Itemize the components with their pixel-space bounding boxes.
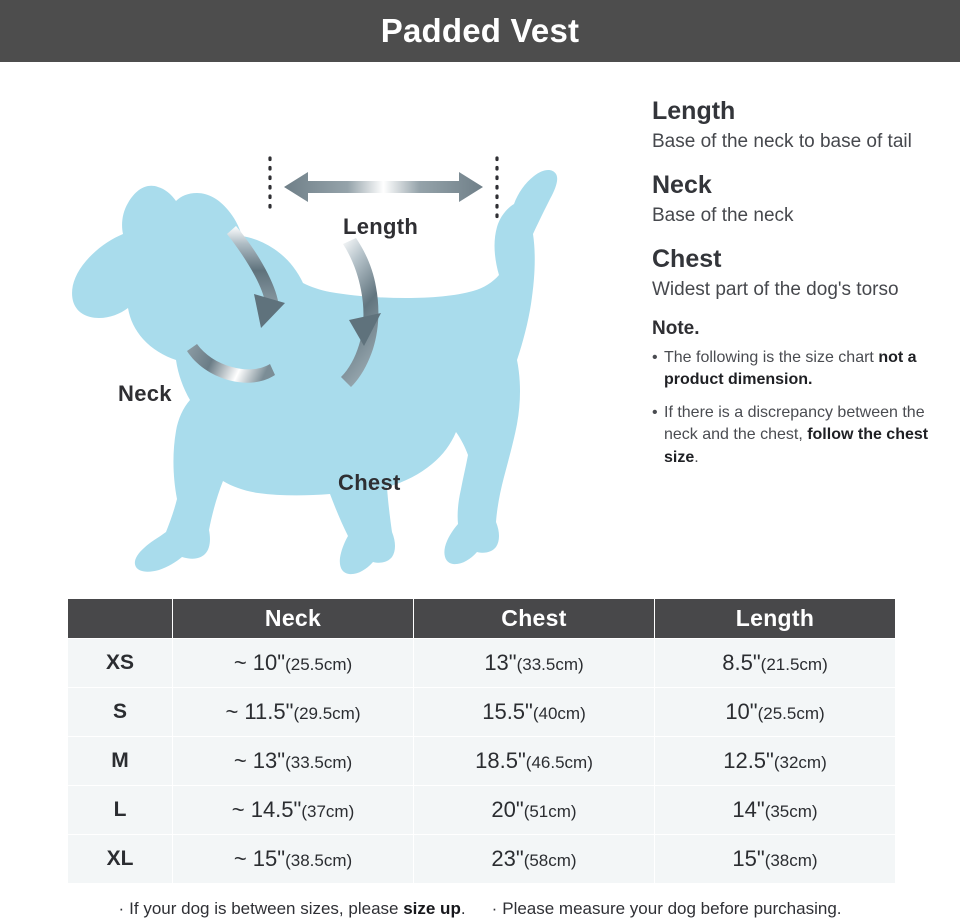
cell-neck: ~ 10"(25.5cm) — [173, 639, 413, 687]
note-text-plain-end: . — [694, 449, 698, 466]
value-cm: (35cm) — [765, 802, 818, 821]
value-cm: (25.5cm) — [285, 655, 352, 674]
column-header-length: Length — [655, 599, 895, 638]
value-cm: (25.5cm) — [758, 704, 825, 723]
value-inches: 15.5" — [482, 699, 533, 724]
cell-length: 12.5"(32cm) — [655, 737, 895, 785]
cell-neck: ~ 15"(38.5cm) — [173, 835, 413, 883]
value-inches: 23" — [491, 846, 523, 871]
value-inches: ~ 11.5" — [225, 699, 293, 724]
column-header-chest: Chest — [414, 599, 654, 638]
value-cm: (21.5cm) — [761, 655, 828, 674]
cell-chest: 20"(51cm) — [414, 786, 654, 834]
cell-size: M — [68, 737, 172, 785]
description-length: Length Base of the neck to base of tail — [652, 96, 940, 154]
cell-neck: ~ 14.5"(37cm) — [173, 786, 413, 834]
table-row: S ~ 11.5"(29.5cm) 15.5"(40cm) 10"(25.5cm… — [68, 688, 895, 736]
value-inches: 12.5" — [723, 748, 774, 773]
value-inches: ~ 13" — [234, 748, 285, 773]
page-title: Padded Vest — [381, 12, 579, 50]
bullet-icon: • — [652, 402, 658, 424]
footer-note-measure: ·Please measure your dog before purchasi… — [492, 899, 842, 919]
note-item: •The following is the size chart not a p… — [652, 347, 940, 391]
cell-neck: ~ 11.5"(29.5cm) — [173, 688, 413, 736]
value-inches: 15" — [732, 846, 764, 871]
cell-chest: 13"(33.5cm) — [414, 639, 654, 687]
cell-chest: 18.5"(46.5cm) — [414, 737, 654, 785]
description-definition: Widest part of the dog's torso — [652, 277, 940, 302]
cell-size: S — [68, 688, 172, 736]
column-header-size — [68, 599, 172, 638]
length-arrow-icon — [284, 172, 483, 202]
footer-note-size-up: ·If your dog is between sizes, please si… — [118, 899, 465, 919]
value-cm: (40cm) — [533, 704, 586, 723]
diagram-label-chest: Chest — [338, 470, 401, 496]
description-term: Neck — [652, 170, 940, 200]
value-cm: (38.5cm) — [285, 851, 352, 870]
description-definition: Base of the neck to base of tail — [652, 129, 940, 154]
value-cm: (37cm) — [301, 802, 354, 821]
table-row: M ~ 13"(33.5cm) 18.5"(46.5cm) 12.5"(32cm… — [68, 737, 895, 785]
footer-text-plain: Please measure your dog before purchasin… — [502, 899, 841, 918]
value-cm: (58cm) — [524, 851, 577, 870]
value-inches: 13" — [484, 650, 516, 675]
size-chart-table: Neck Chest Length XS ~ 10"(25.5cm) 13"(3… — [67, 598, 896, 884]
note-text-plain: The following is the size chart — [664, 349, 878, 366]
value-cm: (33.5cm) — [517, 655, 584, 674]
note-list: •The following is the size chart not a p… — [652, 347, 940, 468]
cell-length: 8.5"(21.5cm) — [655, 639, 895, 687]
description-chest: Chest Widest part of the dog's torso — [652, 244, 940, 302]
cell-size: XS — [68, 639, 172, 687]
dog-diagram-svg — [0, 62, 640, 582]
dog-silhouette — [72, 170, 557, 574]
cell-chest: 23"(58cm) — [414, 835, 654, 883]
table-row: XS ~ 10"(25.5cm) 13"(33.5cm) 8.5"(21.5cm… — [68, 639, 895, 687]
dog-measurement-illustration: Length Neck Chest — [0, 62, 640, 582]
footer-text-bold: size up — [403, 899, 461, 918]
description-definition: Base of the neck — [652, 203, 940, 228]
bullet-icon: · — [492, 899, 498, 918]
value-cm: (46.5cm) — [526, 753, 593, 772]
table-row: XL ~ 15"(38.5cm) 23"(58cm) 15"(38cm) — [68, 835, 895, 883]
bullet-icon: • — [652, 347, 658, 369]
value-inches: 18.5" — [475, 748, 526, 773]
note-heading: Note. — [652, 318, 940, 340]
value-inches: ~ 10" — [234, 650, 285, 675]
value-inches: 14" — [732, 797, 764, 822]
value-inches: ~ 15" — [234, 846, 285, 871]
diagram-label-length: Length — [343, 214, 418, 240]
value-cm: (33.5cm) — [285, 753, 352, 772]
cell-size: XL — [68, 835, 172, 883]
value-inches: ~ 14.5" — [232, 797, 302, 822]
page-header-bar: Padded Vest — [0, 0, 960, 62]
bullet-icon: · — [118, 899, 124, 918]
cell-length: 14"(35cm) — [655, 786, 895, 834]
footer-notes: ·If your dog is between sizes, please si… — [0, 893, 960, 924]
table-row: L ~ 14.5"(37cm) 20"(51cm) 14"(35cm) — [68, 786, 895, 834]
cell-neck: ~ 13"(33.5cm) — [173, 737, 413, 785]
value-cm: (32cm) — [774, 753, 827, 772]
value-cm: (29.5cm) — [293, 704, 360, 723]
value-inches: 20" — [491, 797, 523, 822]
column-header-neck: Neck — [173, 599, 413, 638]
cell-chest: 15.5"(40cm) — [414, 688, 654, 736]
footer-text-plain: If your dog is between sizes, please — [129, 899, 403, 918]
cell-length: 15"(38cm) — [655, 835, 895, 883]
table-header-row: Neck Chest Length — [68, 599, 895, 638]
value-inches: 8.5" — [722, 650, 760, 675]
measurement-descriptions: Length Base of the neck to base of tail … — [652, 96, 940, 480]
cell-size: L — [68, 786, 172, 834]
value-cm: (38cm) — [765, 851, 818, 870]
diagram-label-neck: Neck — [118, 381, 172, 407]
cell-length: 10"(25.5cm) — [655, 688, 895, 736]
value-cm: (51cm) — [524, 802, 577, 821]
description-term: Length — [652, 96, 940, 126]
footer-text-plain-end: . — [461, 899, 466, 918]
description-neck: Neck Base of the neck — [652, 170, 940, 228]
description-term: Chest — [652, 244, 940, 274]
value-inches: 10" — [725, 699, 757, 724]
note-item: •If there is a discrepancy between the n… — [652, 402, 940, 468]
